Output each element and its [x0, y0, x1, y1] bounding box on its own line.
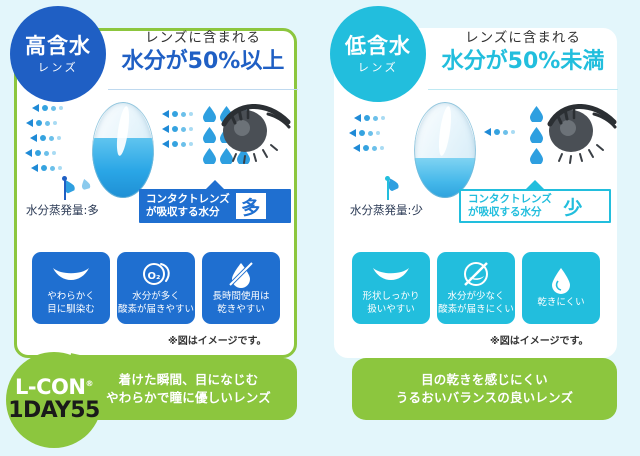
- contact-lens-illustration: [414, 102, 476, 198]
- oxygen-no-icon: [461, 260, 491, 288]
- droplet-icon: [530, 106, 543, 122]
- callout-notch-right: [526, 180, 544, 189]
- badge-sub-label: レンズ: [38, 62, 78, 73]
- svg-text:O₂: O₂: [148, 271, 161, 282]
- callout-right: コンタクトレンズ が吸収する水分 少: [459, 189, 611, 223]
- contact-lens-illustration: [92, 102, 154, 198]
- evaporation-arrows-right: [348, 114, 385, 159]
- callout-notch-left: [206, 180, 224, 189]
- droplet-icon: [530, 148, 543, 164]
- droplet-icon: [203, 106, 216, 122]
- absorption-arrows-left: [162, 110, 193, 155]
- footer-right: 目の乾きを感じにくい うるおいバランスの良いレンズ: [352, 358, 617, 420]
- feature-tile[interactable]: 形状しっかり 扱いやすい: [352, 252, 430, 324]
- feature-tile[interactable]: O₂ 水分が多く 酸素が届きやすい: [117, 252, 195, 324]
- infographic-root: 高含水 レンズ レンズに含まれる 水分が50%以上: [0, 0, 640, 456]
- callout-text-right: コンタクトレンズ が吸収する水分: [468, 193, 552, 219]
- feature-tiles-left: やわらかく 目に馴染む O₂ 水分が多く 酸素が届きやすい: [32, 252, 280, 324]
- heading-line1: レンズに含まれる: [110, 30, 296, 46]
- brand-name: L-CON®: [15, 377, 93, 398]
- feature-tile[interactable]: 乾きにくい: [522, 252, 600, 324]
- evaporation-label-left: 水分蒸発量:多: [26, 202, 99, 218]
- feature-label: 形状しっかり 扱いやすい: [362, 291, 419, 316]
- heading-line2: 水分が50%以上: [110, 48, 296, 76]
- eye-illustration: [218, 104, 292, 166]
- soft-lens-icon: [51, 260, 91, 288]
- feature-label: 水分が多く 酸素が届きやすい: [118, 291, 194, 316]
- feature-label: 長時間使用は 乾きやすい: [212, 291, 269, 316]
- badge-main-label: 低含水: [345, 36, 411, 57]
- disclaimer-note-left: ※図はイメージです。: [168, 332, 267, 347]
- feature-tile[interactable]: 長時間使用は 乾きやすい: [202, 252, 280, 324]
- footer-text-right: 目の乾きを感じにくい うるおいバランスの良いレンズ: [396, 371, 573, 407]
- eye-illustration: [544, 104, 618, 166]
- heading-divider-left: [108, 89, 298, 90]
- heading-right: レンズに含まれる 水分が50%未満: [430, 30, 616, 76]
- heading-line2: 水分が50%未満: [430, 48, 616, 76]
- feature-label: 水分が少なく 酸素が届きにくい: [438, 291, 514, 316]
- heading-line1: レンズに含まれる: [430, 30, 616, 46]
- callout-left: コンタクトレンズ が吸収する水分 多: [139, 189, 291, 223]
- feature-label: やわらかく 目に馴染む: [47, 291, 95, 316]
- evaporation-label-right: 水分蒸発量:少: [350, 202, 423, 218]
- feature-label: 乾きにくい: [537, 297, 584, 309]
- brand-badge-lcon: L-CON® 1DAY55: [6, 352, 102, 448]
- droplet-no-icon: [227, 260, 255, 288]
- feature-tile[interactable]: やわらかく 目に馴染む: [32, 252, 110, 324]
- absorption-arrows-right: [484, 128, 515, 143]
- droplet-icon: [203, 148, 216, 164]
- heading-left: レンズに含まれる 水分が50%以上: [110, 30, 296, 76]
- pointer-line-left: [64, 178, 66, 200]
- callout-text-left: コンタクトレンズ が吸収する水分: [146, 193, 230, 219]
- feature-tile[interactable]: 水分が少なく 酸素が届きにくい: [437, 252, 515, 324]
- callout-value-right: 少: [558, 193, 588, 219]
- disclaimer-note-right: ※図はイメージです。: [490, 332, 589, 347]
- callout-value-left: 多: [236, 193, 266, 219]
- droplet-icon: [530, 127, 543, 143]
- badge-high-water-content: 高含水 レンズ: [10, 6, 106, 102]
- droplet-icon: [203, 127, 216, 143]
- evaporation-arrows-left: [24, 104, 63, 179]
- heading-divider-right: [428, 89, 618, 90]
- pointer-line-right: [387, 178, 389, 200]
- stray-droplet-icon: [80, 178, 91, 190]
- badge-sub-label: レンズ: [358, 62, 398, 73]
- firm-lens-icon: [371, 260, 411, 288]
- oxygen-o2-icon: O₂: [139, 260, 173, 288]
- badge-low-water-content: 低含水 レンズ: [330, 6, 426, 102]
- droplet-icon: [549, 266, 573, 294]
- brand-product: 1DAY55: [8, 399, 99, 422]
- badge-main-label: 高含水: [25, 36, 91, 57]
- feature-tiles-right: 形状しっかり 扱いやすい 水分が少なく 酸素が届きにくい: [352, 252, 600, 324]
